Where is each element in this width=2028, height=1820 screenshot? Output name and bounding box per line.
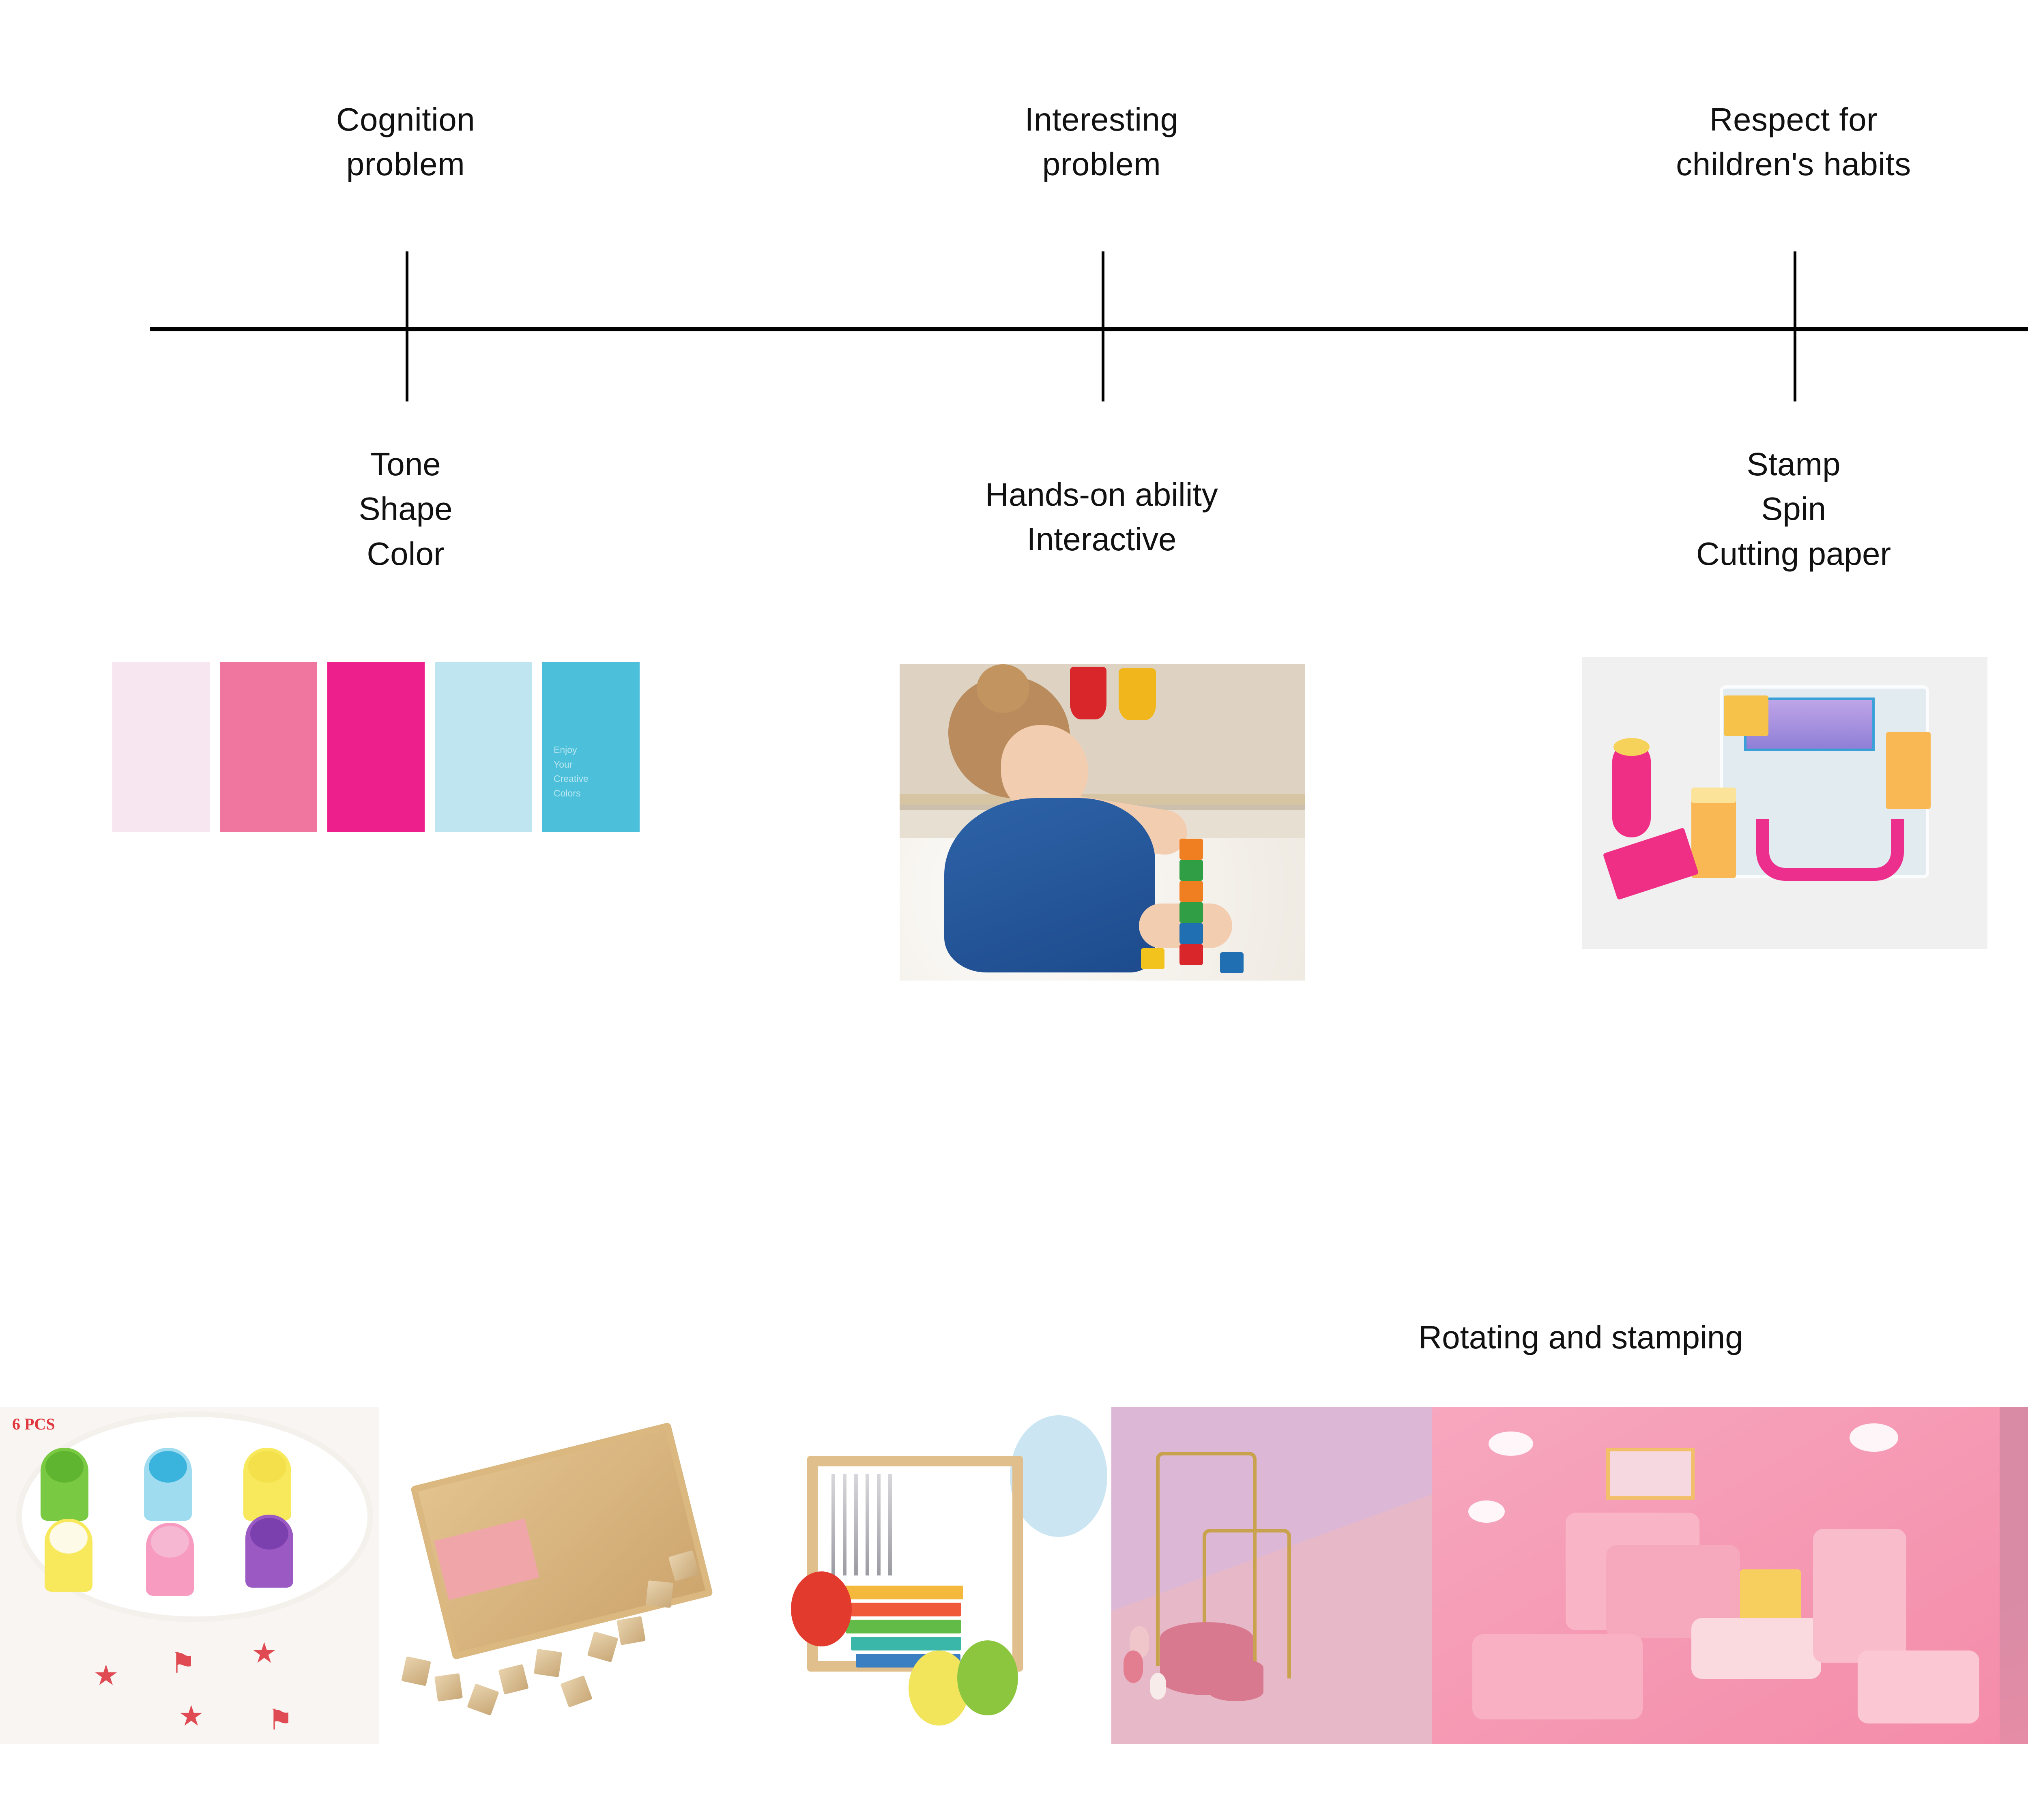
timeline-axis xyxy=(150,327,2028,331)
strip-image-colorful-stamps: 6 PCS ★ ⚑ ★ ★ ⚑ xyxy=(0,1407,379,1744)
column-header-cognition: Cognition problem xyxy=(243,97,568,187)
strip-image-wooden-letter-stamps xyxy=(379,1407,746,1744)
swatch-caption: Enjoy Your Creative Colors xyxy=(554,743,589,801)
photo-stamp-kit xyxy=(1582,657,1987,949)
image-strip: 6 PCS ★ ⚑ ★ ★ ⚑ xyxy=(0,1407,2028,1744)
strip-title: Rotating and stamping xyxy=(0,1319,2028,1356)
strip-image-toaster-cards xyxy=(2000,1407,2028,1744)
column-header-respect: Respect for children's habits xyxy=(1611,97,1976,187)
photo-toddler-playing xyxy=(900,664,1305,981)
color-palette: Enjoy Your Creative Colors xyxy=(112,662,721,832)
timeline-section: Cognition problem Interesting problem Re… xyxy=(0,0,2028,1217)
color-swatch-ice-blue xyxy=(435,662,532,832)
timeline-tick-2 xyxy=(1102,251,1104,401)
color-swatch-magenta xyxy=(327,662,425,832)
column-header-interesting: Interesting problem xyxy=(939,97,1264,187)
timeline-tick-1 xyxy=(406,251,408,401)
column-sub-cognition: Tone Shape Color xyxy=(243,442,568,576)
column-sub-respect: Stamp Spin Cutting paper xyxy=(1591,442,1996,576)
color-swatch-rose-pink xyxy=(220,662,317,832)
timeline-tick-3 xyxy=(1794,251,1796,401)
strip-image-wooden-music-toy xyxy=(746,1407,1111,1744)
color-swatch-blush-white xyxy=(112,662,210,832)
strip-image-pink-podium xyxy=(1111,1407,1432,1744)
pcs-badge: 6 PCS xyxy=(12,1414,55,1434)
strip-image-pink-isometric-room xyxy=(1432,1407,2000,1744)
color-swatch-teal-blue: Enjoy Your Creative Colors xyxy=(542,662,640,832)
column-sub-interesting: Hands-on ability Interactive xyxy=(899,472,1304,562)
